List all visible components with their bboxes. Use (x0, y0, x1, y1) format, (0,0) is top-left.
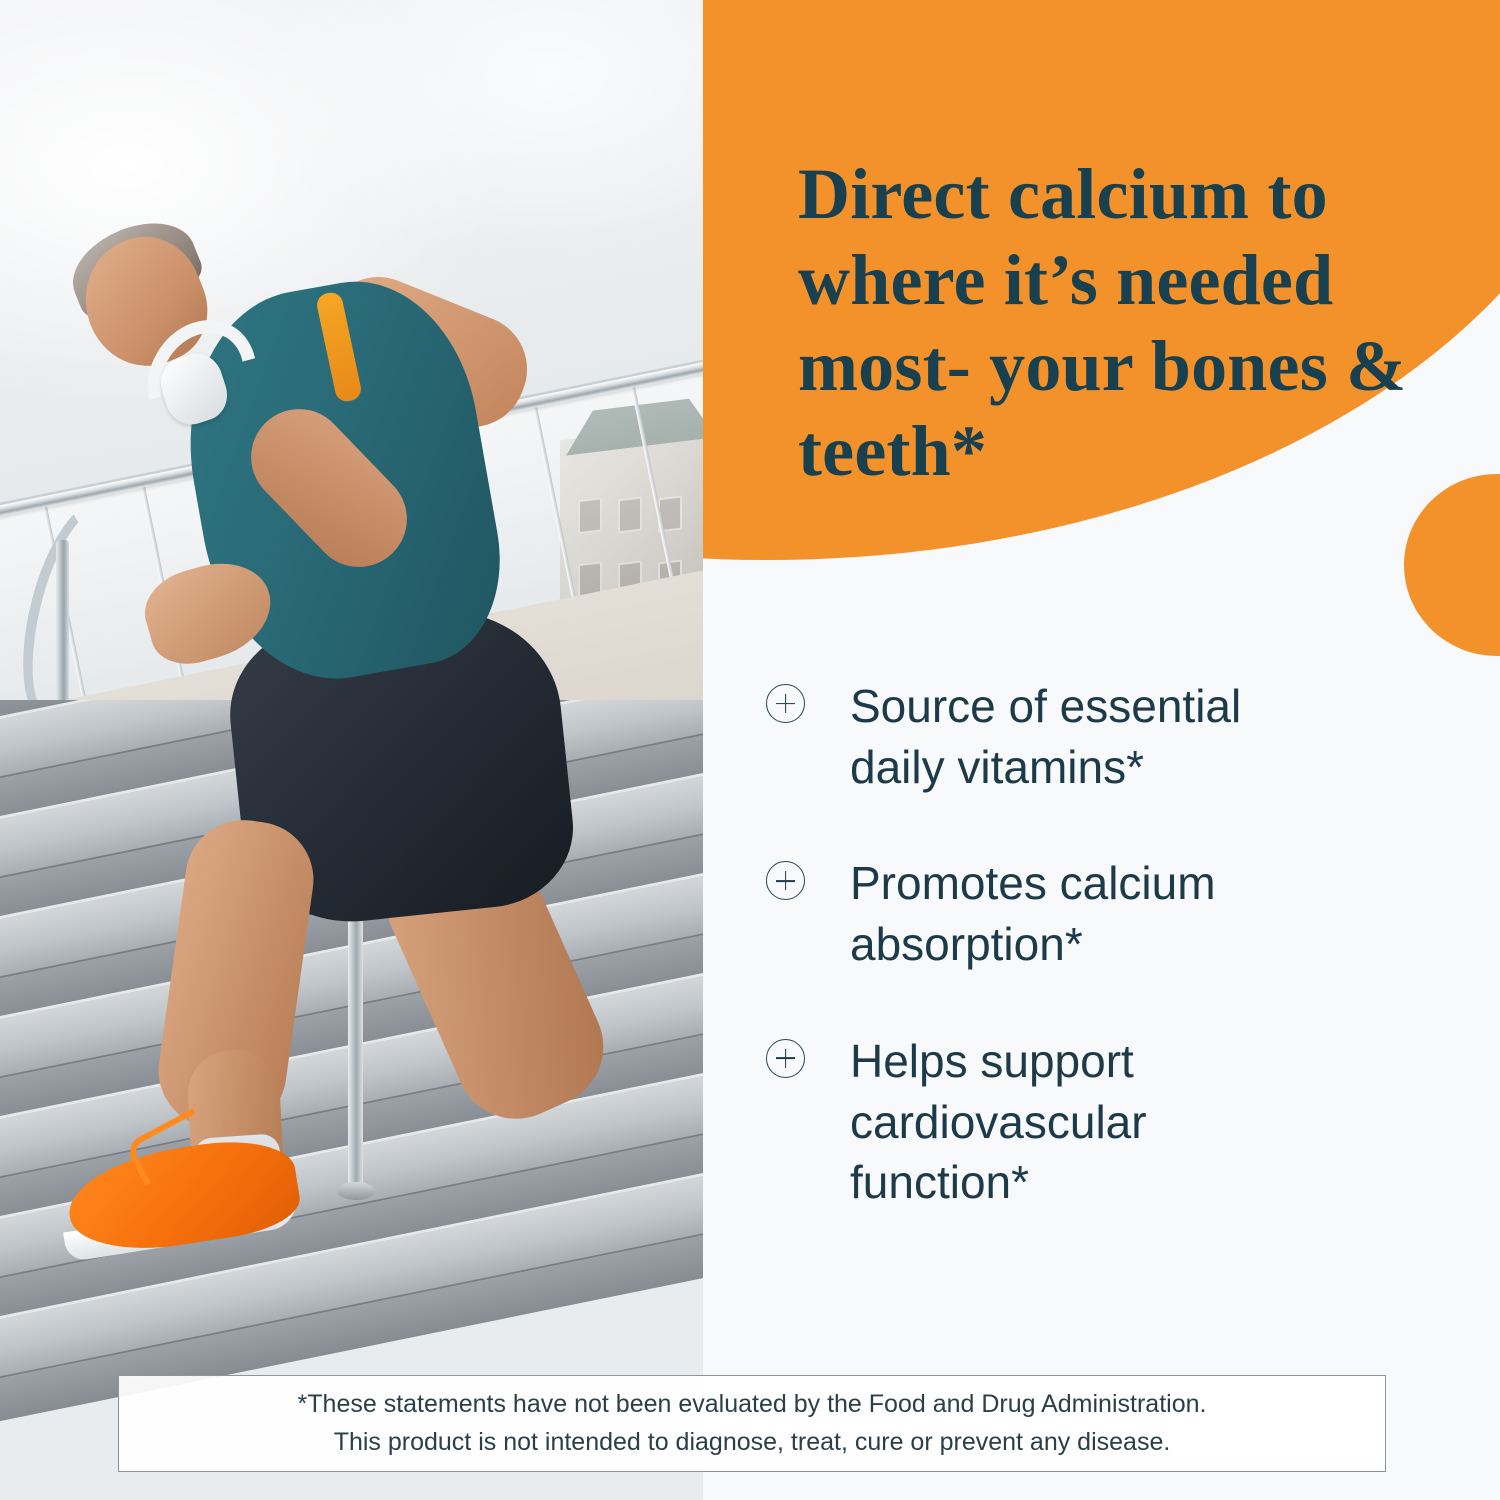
benefit-label: Source of essential daily vitamins* (850, 676, 1320, 797)
list-item: Source of essential daily vitamins* (766, 676, 1386, 797)
benefits-list: Source of essential daily vitamins* Prom… (766, 676, 1386, 1213)
page-title: Direct calcium to where it’s needed most… (798, 152, 1458, 495)
rail-post (56, 540, 69, 710)
benefit-label: Helps support cardiovascular function* (850, 1031, 1320, 1213)
fda-disclaimer-box: *These statements have not been evaluate… (118, 1375, 1386, 1472)
list-item: Promotes calcium absorption* (766, 853, 1386, 974)
disclaimer-line-2: This product is not intended to diagnose… (334, 1424, 1171, 1462)
list-item: Helps support cardiovascular function* (766, 1031, 1386, 1213)
plus-circle-icon (766, 1039, 805, 1078)
stair-rail-pole-base (337, 1182, 375, 1200)
disclaimer-line-1: *These statements have not been evaluate… (298, 1386, 1207, 1424)
plus-circle-icon (766, 861, 805, 900)
plus-circle-icon (766, 684, 805, 723)
benefit-label: Promotes calcium absorption* (850, 853, 1320, 974)
lifestyle-photo (0, 0, 703, 1500)
orange-accent-circle (1404, 474, 1500, 656)
promo-image-canvas: Direct calcium to where it’s needed most… (0, 0, 1500, 1500)
